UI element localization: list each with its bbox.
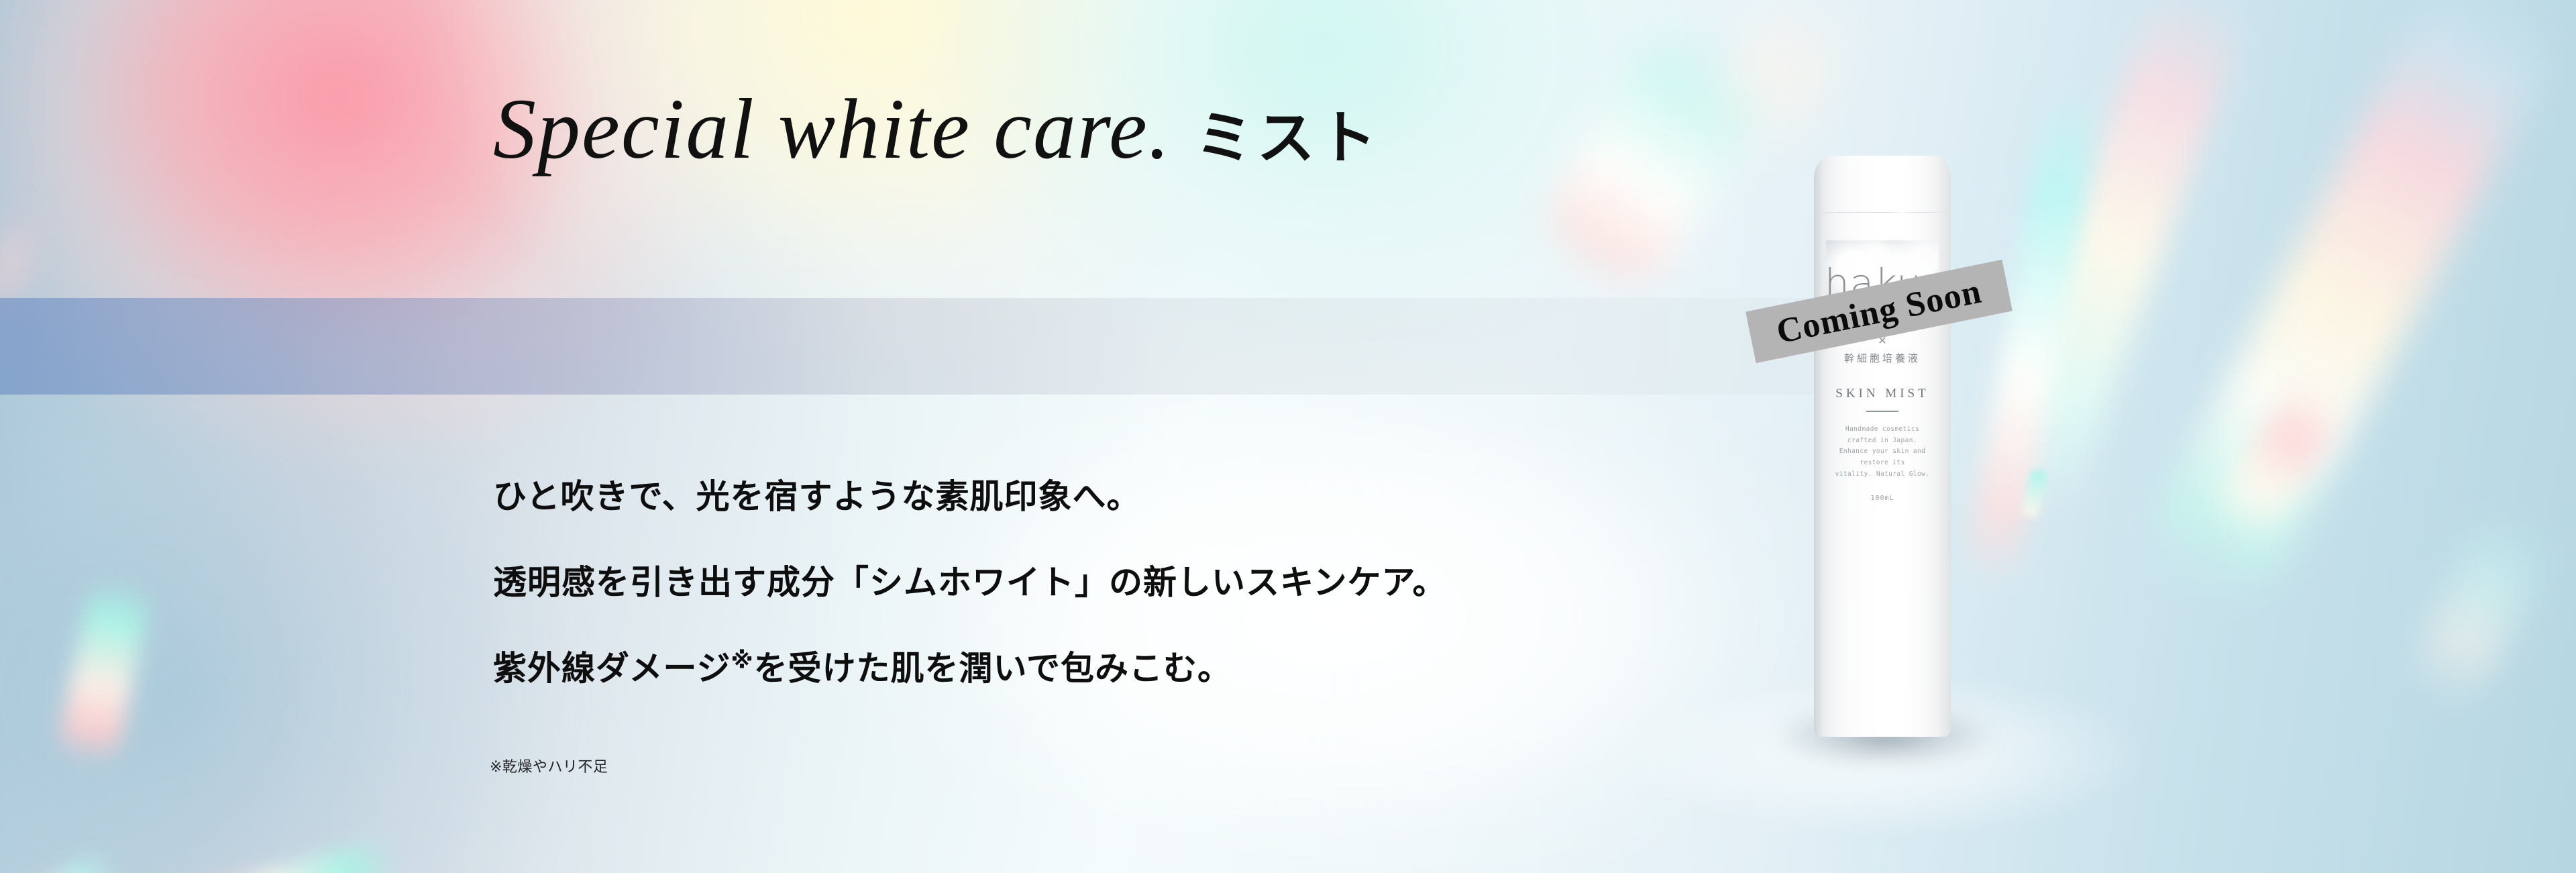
footnote-marker: ※: [731, 647, 754, 674]
label-divider: [1866, 411, 1898, 412]
body-line-2: 透明感を引き出す成分「シムホワイト」の新しいスキンケア。: [493, 566, 1447, 599]
bottle-cap-seam: [1814, 212, 1951, 213]
body-line-3-lead: 紫外線ダメージ: [493, 649, 731, 688]
label-volume: 100mL: [1825, 495, 1940, 502]
body-line-1: ひと吹きで、光を宿すような素肌印象へ。: [493, 480, 1447, 513]
headline-latin: Special white care.: [493, 86, 1171, 172]
body-copy: ひと吹きで、光を宿すような素肌印象へ。 透明感を引き出す成分「シムホワイト」の新…: [493, 480, 1447, 685]
decorative-band: [0, 298, 1819, 395]
headline: Special white care. ミスト: [493, 86, 1381, 172]
headline-kana: ミスト: [1195, 109, 1381, 167]
body-line-3: 紫外線ダメージ※を受けた肌を潤いで包みこむ。: [493, 652, 1447, 685]
body-line-3-tail: を受けた肌を潤いで包みこむ。: [754, 649, 1232, 688]
product-bottle: hakua Stem Glow ✕ 幹細胞培養液 SKIN MIST Handm…: [1814, 156, 1951, 737]
promo-banner: Special white care. ミスト ひと吹きで、光を宿すような素肌印…: [0, 0, 2576, 873]
label-description: Handmade cosmetics crafted in Japan. Enh…: [1825, 424, 1940, 480]
label-product-type: SKIN MIST: [1825, 387, 1940, 401]
footnote-text: ※乾燥やハリ不足: [490, 755, 608, 776]
label-subtitle-jp: 幹細胞培養液: [1825, 351, 1940, 365]
